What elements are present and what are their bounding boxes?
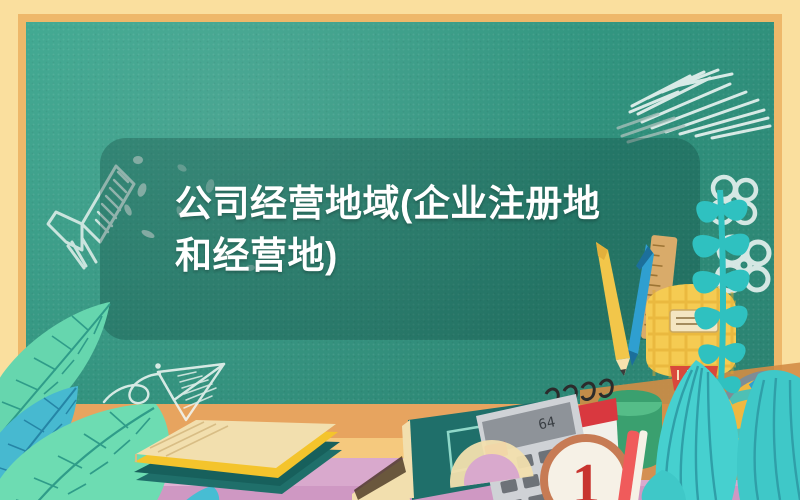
leaf-icon	[737, 370, 800, 500]
chalk-scribble	[618, 52, 778, 148]
title-line-2: 和经营地)	[175, 235, 338, 276]
pencil-icon	[596, 242, 630, 376]
leaves-illustration	[640, 170, 800, 500]
magnifier-number: 1	[572, 453, 600, 500]
title-line-1: 公司经营地域(企业注册地	[175, 183, 600, 224]
banner-image: 公司经营地域(企业注册地和经营地)	[0, 0, 800, 500]
